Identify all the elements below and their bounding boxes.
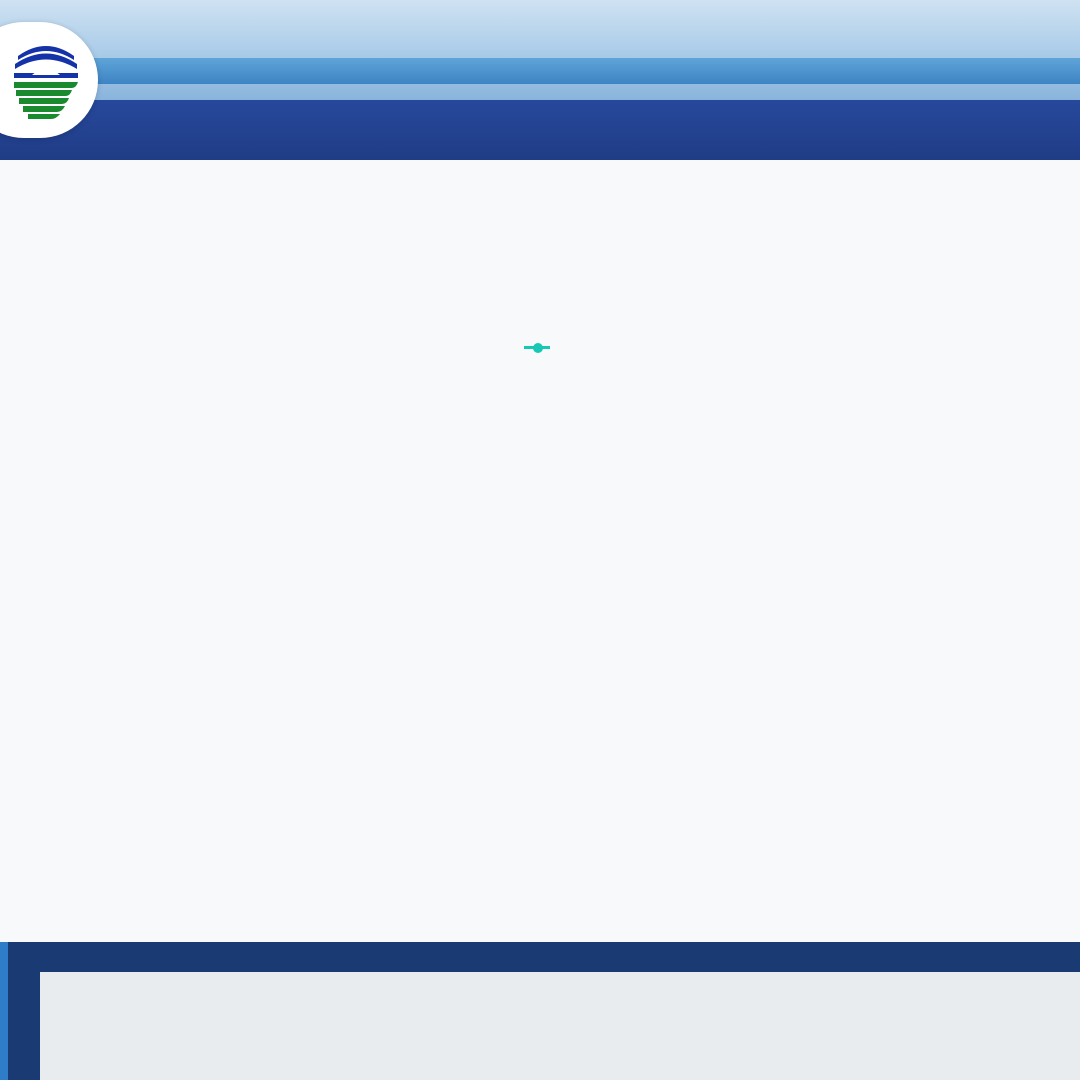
header-sky (0, 0, 1080, 100)
bmkg-logo-mark (10, 30, 82, 130)
legend-sidebar (0, 942, 40, 1080)
legend-note (40, 942, 1080, 972)
header-terminal-floor (0, 100, 1080, 160)
sst-chart (18, 226, 1062, 344)
legend-accent-bar (0, 942, 8, 1080)
page-header (0, 0, 1080, 160)
validity-range (0, 183, 1080, 202)
title-block (0, 160, 1080, 202)
chart-legend-marker (524, 346, 550, 349)
legend-item-row (40, 972, 1080, 978)
header-sea (0, 58, 1080, 84)
legend-section (0, 942, 1080, 1080)
